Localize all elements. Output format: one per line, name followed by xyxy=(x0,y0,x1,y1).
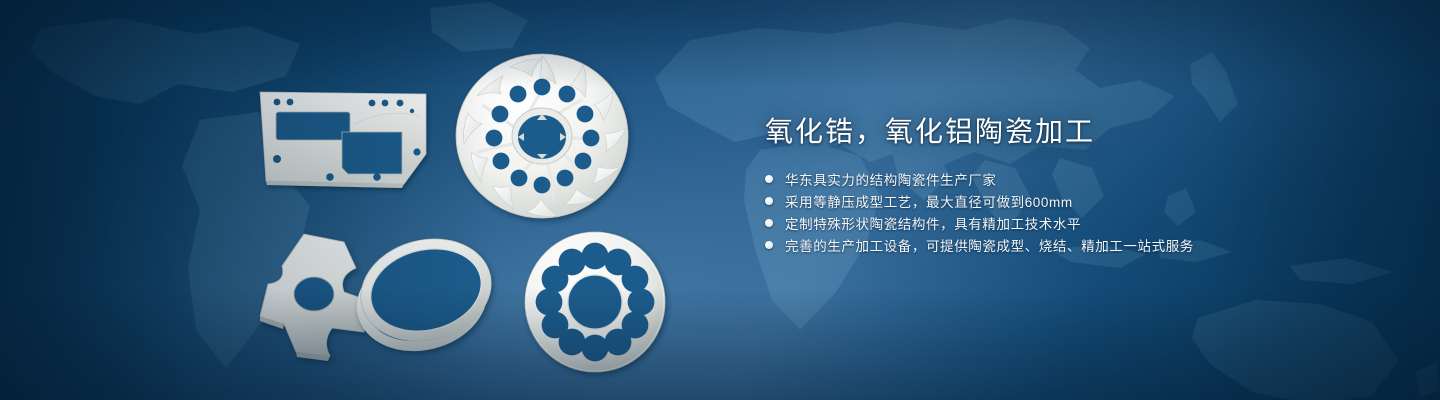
hero-banner: 氧化锆，氧化铝陶瓷加工 华东具实力的结构陶瓷件生产厂家 采用等静压成型工艺，最大… xyxy=(0,0,1440,400)
bullet-item-1: 华东具实力的结构陶瓷件生产厂家 xyxy=(765,168,1385,190)
bullet-label: 完善的生产加工设备，可提供陶瓷成型、烧结、精加工一站式服务 xyxy=(785,235,1194,255)
bullet-dot-icon xyxy=(765,197,773,205)
product-ceramic-ring-pair xyxy=(342,232,517,362)
bullet-dot-icon xyxy=(765,219,773,227)
banner-headline: 氧化锆，氧化铝陶瓷加工 xyxy=(765,112,1385,152)
banner-bullet-list: 华东具实力的结构陶瓷件生产厂家 采用等静压成型工艺，最大直径可做到600mm 定… xyxy=(765,168,1385,256)
bullet-item-4: 完善的生产加工设备，可提供陶瓷成型、烧结、精加工一站式服务 xyxy=(765,234,1385,256)
product-ceramic-impeller-disc xyxy=(452,48,632,224)
bullet-dot-icon xyxy=(765,175,773,183)
bullet-item-3: 定制特殊形状陶瓷结构件，具有精加工技术水平 xyxy=(765,212,1385,234)
product-ceramic-perforated-flange xyxy=(520,228,670,376)
bullet-item-2: 采用等静压成型工艺，最大直径可做到600mm xyxy=(765,190,1385,212)
banner-text-block: 氧化锆，氧化铝陶瓷加工 华东具实力的结构陶瓷件生产厂家 采用等静压成型工艺，最大… xyxy=(765,112,1385,256)
product-ceramic-machined-plate xyxy=(250,80,440,200)
bullet-label: 采用等静压成型工艺，最大直径可做到600mm xyxy=(785,191,1073,211)
bullet-dot-icon xyxy=(765,241,773,249)
product-photo-group xyxy=(0,0,720,400)
bullet-label: 华东具实力的结构陶瓷件生产厂家 xyxy=(785,169,997,189)
bullet-label: 定制特殊形状陶瓷结构件，具有精加工技术水平 xyxy=(785,213,1081,233)
